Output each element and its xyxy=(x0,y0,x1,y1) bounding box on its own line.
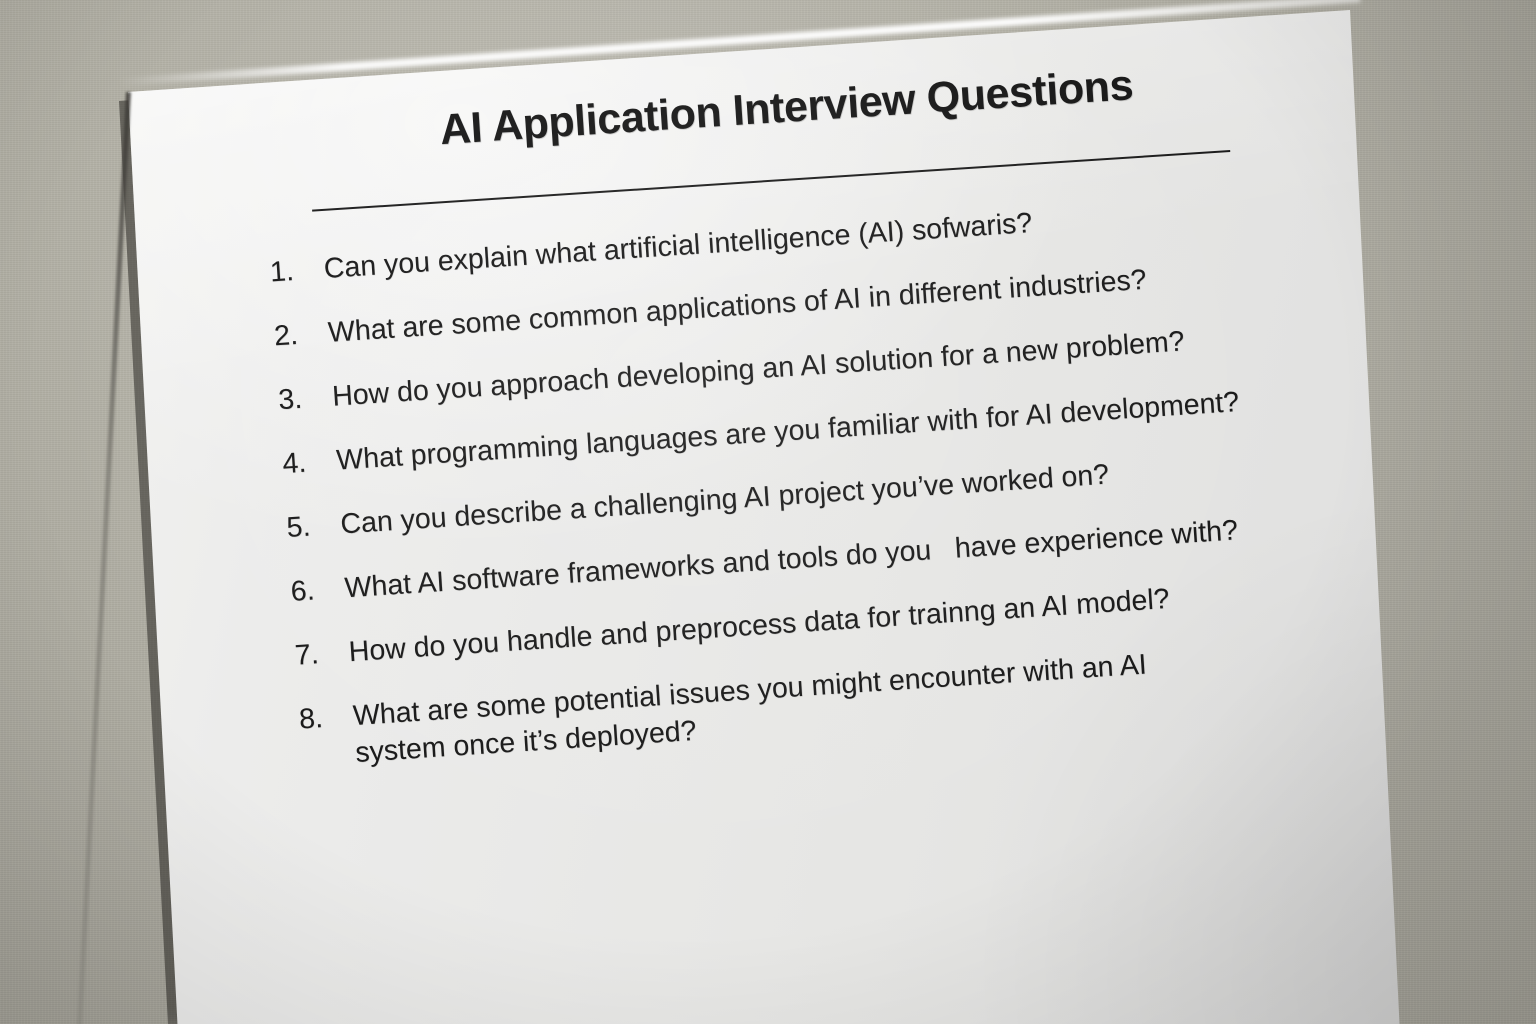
question-number: 3. xyxy=(275,379,333,420)
question-number: 7. xyxy=(292,635,350,676)
question-number: 5. xyxy=(284,507,342,548)
question-number: 6. xyxy=(288,571,346,612)
question-number: 8. xyxy=(296,698,354,739)
photo-scene: AI Application Interview Questions 1. Ca… xyxy=(0,0,1536,1024)
question-number: 4. xyxy=(279,443,337,484)
question-number: 2. xyxy=(271,315,329,356)
question-number: 1. xyxy=(267,251,325,292)
document-content: AI Application Interview Questions 1. Ca… xyxy=(258,52,1320,803)
question-list: 1. Can you explain what artificial intel… xyxy=(267,189,1319,776)
paper-left-edge xyxy=(76,92,131,1024)
